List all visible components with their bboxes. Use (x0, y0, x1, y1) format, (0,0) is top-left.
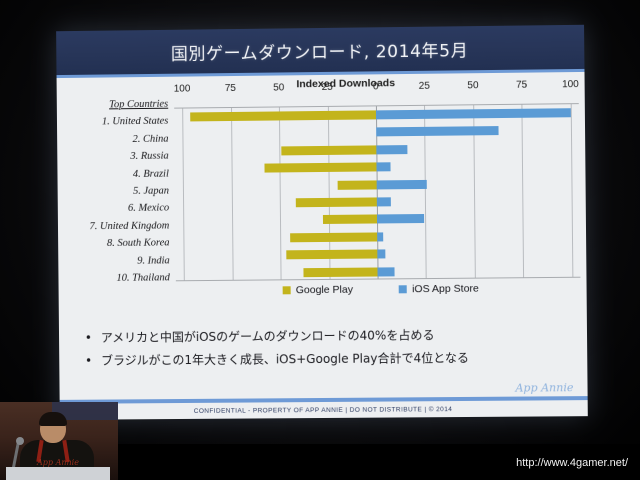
bar-google-play (281, 145, 376, 155)
x-tick-label-right: 75 (516, 80, 527, 91)
x-axis-tick-labels: 1007550250255075100 (174, 79, 579, 96)
speaker-at-podium: App Annie (0, 402, 118, 480)
bar-ios-app-store (376, 108, 571, 119)
legend-label-google-play: Google Play (296, 284, 353, 296)
bullet-item: • ブラジルがこの1年大きく成長、iOS+Google Play合計で4位となる (85, 349, 565, 369)
bar-ios-app-store (377, 179, 428, 189)
app-annie-logo: App Annie (515, 381, 573, 394)
category-label-list: 1. United States2. China3. Russia4. Braz… (57, 113, 176, 288)
bar-ios-app-store (377, 197, 391, 206)
speaker-hair (39, 412, 67, 426)
bullet-item: • アメリカと中国がiOSのゲームのダウンロードの40%を占める (85, 326, 565, 346)
x-tick-label-left: 75 (225, 83, 236, 94)
presentation-slide: 国別ゲームダウンロード, 2014年5月 Indexed Downloads T… (56, 25, 588, 420)
category-labels-header: Top Countries (57, 96, 174, 115)
bar-ios-app-store (377, 232, 383, 241)
site-watermark: http://www.4gamer.net/ (516, 457, 628, 469)
microphone-head (16, 437, 24, 445)
x-tick-label-right: 100 (562, 79, 579, 90)
podium (6, 467, 110, 480)
x-tick-label-left: 25 (322, 82, 333, 93)
legend-item-ios-app-store: iOS App Store (399, 283, 479, 296)
x-tick-label-left: 50 (273, 82, 284, 93)
bar-google-play (295, 197, 377, 207)
bar-ios-app-store (376, 126, 499, 136)
bar-ios-app-store (377, 250, 385, 259)
category-label: 2. China (57, 130, 174, 149)
bullet-text: アメリカと中国がiOSのゲームのダウンロードの40%を占める (101, 327, 435, 346)
category-label: 10. Thailand (58, 269, 175, 287)
bar-google-play (290, 232, 377, 242)
x-tick-label-left: 100 (174, 83, 191, 94)
category-labels-column: Top Countries 1. United States2. China3.… (57, 96, 176, 288)
bar-google-play (323, 215, 377, 225)
bar-ios-app-store (376, 162, 390, 171)
category-label: 5. Japan (58, 182, 175, 201)
bullet-marker: • (85, 353, 92, 369)
bar-ios-app-store (377, 267, 395, 276)
x-tick-label-right: 50 (467, 80, 478, 91)
category-label: 3. Russia (57, 148, 174, 167)
slide-title-bar: 国別ゲームダウンロード, 2014年5月 (56, 25, 584, 75)
bullet-list: • アメリカと中国がiOSのゲームのダウンロードの40%を占める • ブラジルが… (85, 326, 565, 376)
bar-google-play (190, 110, 376, 121)
bar-google-play (264, 163, 377, 173)
legend-item-google-play: Google Play (283, 284, 353, 297)
x-tick-label-left: 0 (373, 81, 379, 92)
bar-ios-app-store (377, 214, 424, 223)
category-label: 4. Brazil (57, 165, 174, 184)
category-label: 6. Mexico (58, 200, 175, 218)
footer-rule (60, 396, 588, 404)
slide-title: 国別ゲームダウンロード, 2014年5月 (171, 36, 469, 65)
category-label: 9. India (58, 252, 175, 270)
category-label: 7. United Kingdom (58, 217, 175, 235)
screenshot-root: 国別ゲームダウンロード, 2014年5月 Indexed Downloads T… (0, 0, 640, 480)
bar-google-play (304, 267, 378, 277)
legend-swatch-ios-app-store (399, 285, 407, 293)
bar-google-play (286, 250, 377, 260)
legend-label-ios-app-store: iOS App Store (412, 283, 479, 296)
bullet-marker: • (85, 330, 92, 346)
category-label: 8. South Korea (58, 235, 175, 253)
plot-area: 1007550250255075100 (174, 91, 580, 295)
bar-series-group (174, 104, 580, 282)
legend-swatch-google-play (283, 286, 291, 294)
category-label: 1. United States (57, 113, 174, 132)
chart-legend: Google Play iOS App Store (176, 278, 587, 302)
chart: Indexed Downloads Top Countries 1. Unite… (57, 77, 587, 307)
slide-footer-text: CONFIDENTIAL - PROPERTY OF APP ANNIE | D… (60, 405, 588, 416)
x-tick-label-right: 25 (419, 81, 430, 92)
bullet-text: ブラジルがこの1年大きく成長、iOS+Google Play合計で4位となる (101, 350, 469, 369)
bar-google-play (338, 180, 377, 189)
bar-ios-app-store (376, 145, 407, 154)
